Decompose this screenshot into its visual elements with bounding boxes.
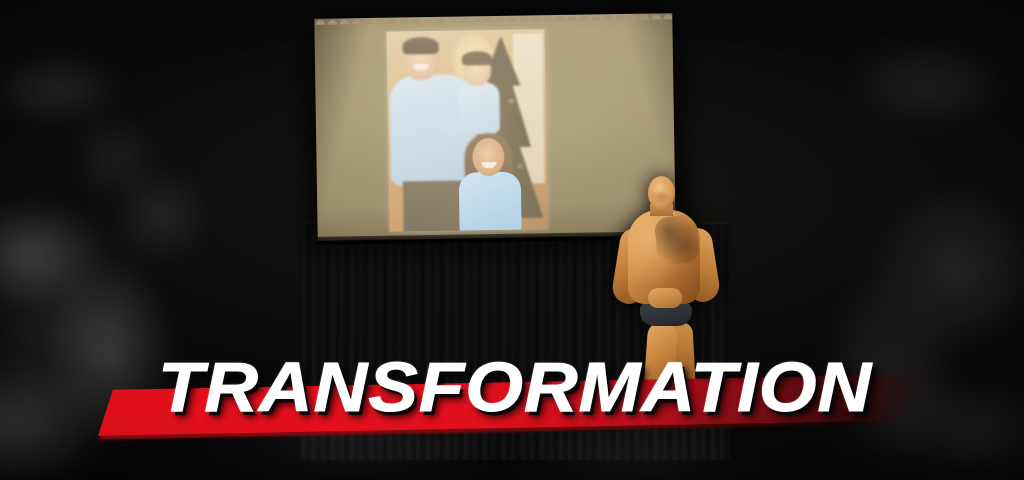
bodybuilder-face-shading bbox=[652, 190, 671, 204]
page-title: TRANSFORMATION bbox=[158, 352, 932, 424]
transformation-banner: TRANSFORMATION bbox=[0, 0, 1024, 480]
chest-tattoo bbox=[654, 214, 701, 266]
bodybuilder-hands bbox=[648, 288, 682, 308]
photo-girl-shirt bbox=[459, 172, 522, 232]
projected-before-photo bbox=[386, 29, 547, 231]
